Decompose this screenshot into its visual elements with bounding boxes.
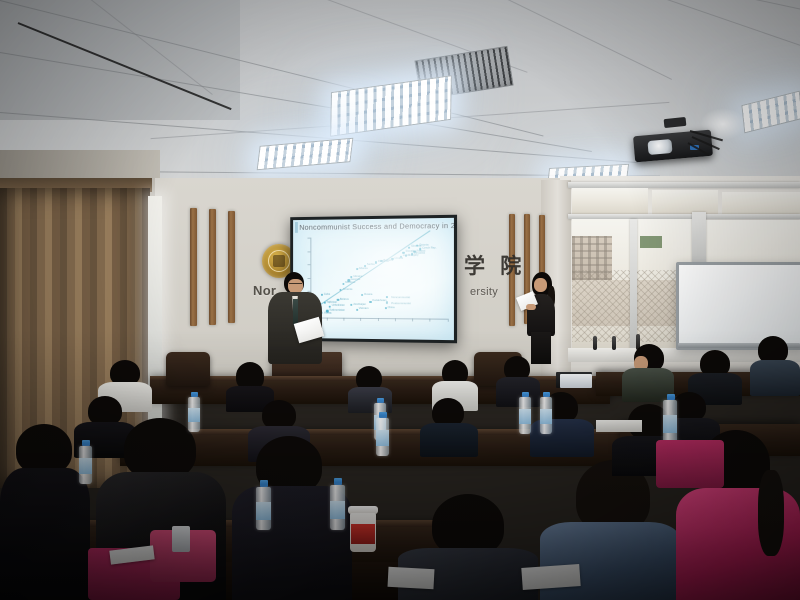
pink-bag-right (656, 440, 724, 488)
ceiling-shadow-area (0, 0, 240, 120)
data-point (342, 283, 344, 285)
x-axis-tick (361, 317, 362, 320)
audience-member (420, 398, 478, 456)
data-point-label: Kazakhstan (372, 299, 386, 302)
wood-slat (190, 208, 197, 326)
legend-label: Postcommunist (391, 301, 410, 305)
data-point-label: Cuba (324, 293, 330, 296)
x-axis-tick (327, 317, 328, 320)
data-point-label: Tajikistan (326, 301, 337, 304)
x-axis (310, 317, 447, 319)
standing-attendee-face (534, 278, 547, 292)
x-axis-tick (412, 318, 413, 321)
bottle-cap (260, 480, 268, 487)
water-bottle[interactable] (256, 480, 271, 530)
x-axis-tick (378, 318, 379, 321)
data-point-label: Vietnam (359, 307, 369, 310)
legend-label: Noncommunist (391, 295, 410, 299)
slide-title: Noncommunist Success and Democracy in 20… (299, 221, 447, 232)
legend-swatch (386, 302, 388, 305)
bottle-cap (334, 478, 342, 485)
x-axis-tick (430, 318, 431, 321)
tree-outside (640, 236, 662, 248)
bottle-label (79, 458, 92, 474)
x-axis-tick (395, 318, 396, 321)
head (16, 424, 72, 474)
bottle-label (330, 501, 345, 519)
data-point-label: Armenia (343, 288, 353, 291)
data-point (329, 305, 331, 307)
water-bottle[interactable] (79, 440, 92, 484)
window-handle (593, 336, 597, 350)
presenter (262, 272, 324, 364)
water-bottle[interactable] (519, 392, 531, 434)
data-point (356, 309, 358, 311)
data-point-label: Romania (378, 260, 389, 263)
data-point-label: Belarus (340, 298, 349, 301)
data-point-label: Serbia (367, 263, 375, 266)
bottle-label (376, 430, 389, 446)
phone[interactable] (172, 526, 190, 552)
hair-strand (758, 470, 784, 556)
wood-slat (228, 211, 235, 323)
handout (521, 564, 580, 590)
bottle-label (256, 502, 271, 520)
window-mullion (630, 219, 637, 351)
data-point (369, 301, 371, 303)
window-transom (652, 190, 718, 216)
data-point (361, 294, 363, 296)
y-axis-tick (307, 238, 310, 239)
data-point-label: Russia (364, 293, 372, 296)
denim-jacket (540, 522, 680, 600)
audience-member (0, 424, 90, 600)
tissue-box (560, 374, 592, 388)
water-bottle[interactable] (540, 392, 552, 434)
water-bottle[interactable] (663, 394, 677, 444)
data-point-label: Slovakia (405, 250, 415, 253)
head (124, 418, 196, 480)
y-axis-tick (307, 251, 310, 252)
data-point (384, 307, 386, 309)
data-point-label: Albania (359, 267, 368, 270)
bottle-label (188, 408, 200, 422)
window-transom (572, 188, 648, 214)
water-bottle[interactable] (330, 478, 345, 530)
data-point-label: Azerbaijan (353, 302, 366, 305)
legend-swatch (386, 296, 388, 299)
wall-sign-cjk: 学 院 (464, 250, 525, 280)
handout (388, 567, 435, 589)
standing-attendee (524, 272, 558, 364)
y-axis-tick (307, 264, 310, 265)
seal-emblem (273, 255, 285, 267)
data-point (356, 268, 358, 270)
presenter-glasses (289, 283, 302, 287)
data-point (375, 261, 377, 263)
cup-band (351, 524, 375, 544)
water-bottle[interactable] (188, 392, 200, 432)
audience-member (750, 336, 800, 396)
wood-slat (209, 209, 216, 325)
scatter-plot: SloveniaEstoniaCzech Rep.PolandLithuania… (310, 236, 447, 319)
head (432, 494, 504, 556)
chair (166, 352, 210, 386)
slide-accent-bar (295, 222, 297, 233)
x-axis-tick (447, 318, 448, 321)
trend-line (321, 230, 431, 305)
data-point (408, 246, 410, 248)
water-bottle[interactable] (376, 412, 389, 456)
data-point-label: Latvia (403, 254, 410, 257)
data-point (350, 304, 352, 306)
wall-sign-latin-right: ersity (470, 286, 498, 298)
shirt (0, 468, 90, 600)
lecture-hall-photo: Nor 学 院 ersity Noncommunist Success and … (0, 0, 800, 600)
coffee-cup[interactable] (348, 506, 378, 552)
data-point-label: Moldova (345, 281, 355, 284)
shirt (420, 423, 478, 457)
data-point-label: Uzbekistan (332, 304, 345, 307)
shirt (750, 360, 800, 396)
bottle-label (663, 415, 677, 433)
window-handle (612, 336, 616, 350)
projector-lens (647, 139, 672, 155)
presenter-tie (293, 299, 298, 325)
document-stack (596, 420, 642, 432)
x-axis-tick (344, 317, 345, 320)
bottle-label (540, 409, 552, 424)
bottle-label (519, 409, 531, 424)
data-point-label: Croatia (394, 257, 403, 260)
standing-attendee-arm (526, 304, 536, 310)
data-point-label: China (388, 306, 395, 309)
